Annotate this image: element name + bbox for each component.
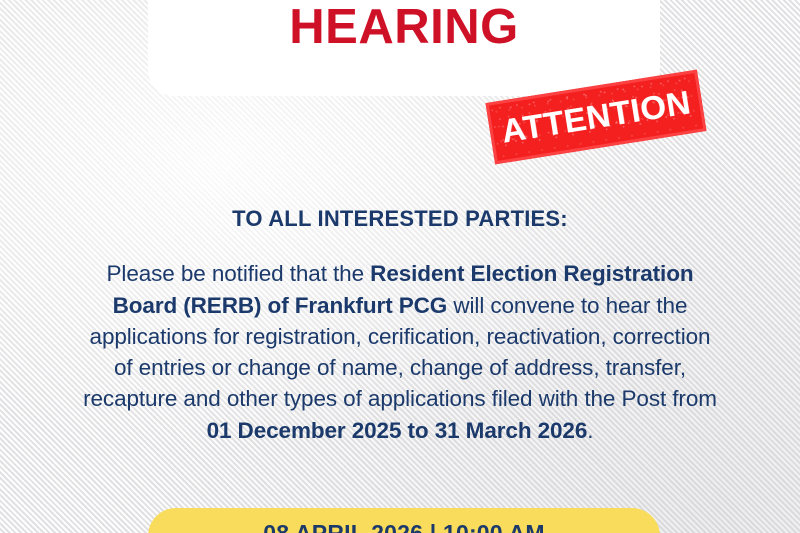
- page-title: HEARING: [148, 3, 660, 52]
- header-card: HEARING: [148, 0, 660, 96]
- filing-period: 01 December 2025 to 31 March 2026: [207, 418, 588, 443]
- body-content: TO ALL INTERESTED PARTIES: Please be not…: [0, 206, 800, 446]
- paragraph-part-1: Please be notified that the: [107, 261, 371, 286]
- schedule-date-time: 08 APRIL 2026 | 10:00 AM: [148, 520, 660, 533]
- hearing-notice-poster: HEARING ATTENTION TO ALL INTERESTED PART…: [0, 0, 800, 533]
- schedule-banner: 08 APRIL 2026 | 10:00 AM: [148, 508, 660, 533]
- paragraph-part-3: .: [587, 418, 593, 443]
- salutation: TO ALL INTERESTED PARTIES:: [0, 206, 800, 232]
- notice-paragraph: Please be notified that the Resident Ele…: [80, 258, 720, 446]
